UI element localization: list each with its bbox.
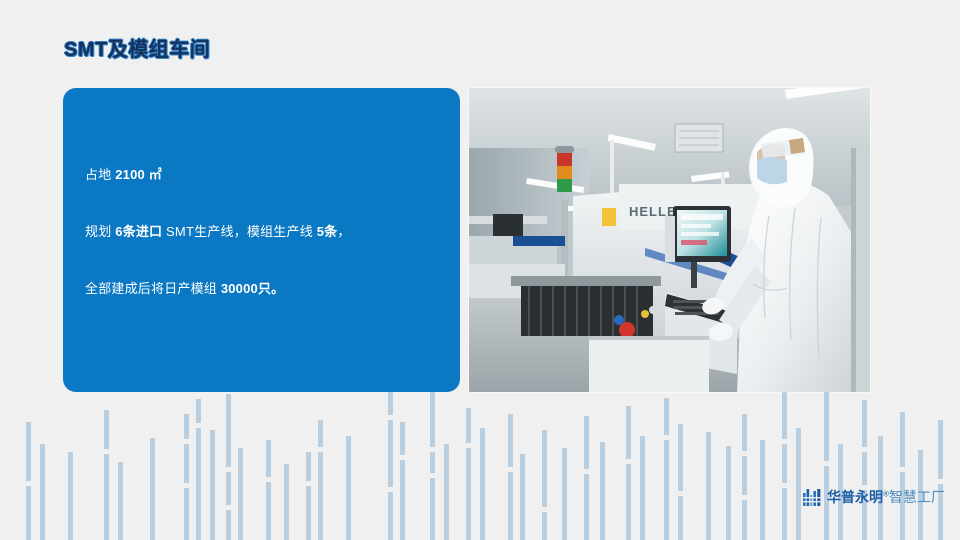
decorative-bar-strip — [0, 392, 960, 540]
decor-bar-gap — [26, 481, 31, 486]
decor-bar — [626, 406, 631, 540]
decor-bar-gap — [742, 451, 747, 456]
decor-bar — [346, 436, 351, 540]
decor-bar — [796, 428, 801, 540]
decor-bar — [640, 436, 645, 540]
decor-bar-gap — [184, 439, 189, 444]
decor-bar — [400, 422, 405, 540]
decor-bar — [782, 392, 787, 540]
page-title: SMT及模组车间 — [64, 33, 210, 62]
decor-bar-gap — [824, 461, 829, 466]
decor-bar — [430, 392, 435, 540]
decor-bar-gap — [542, 507, 547, 512]
decor-bar-gap — [430, 447, 435, 452]
decor-bar-gap — [388, 415, 393, 420]
decor-bar-gap — [782, 439, 787, 444]
decor-bar-gap — [196, 423, 201, 428]
decor-bar-gap — [400, 455, 405, 460]
logo-brand: 华普永明 — [827, 489, 883, 505]
decor-bar-gap — [938, 479, 943, 484]
info-line: 占地 2100 ㎡ — [85, 166, 446, 185]
decor-bar — [480, 428, 485, 540]
info-highlight: 5条 — [317, 224, 338, 239]
decor-bar-gap — [104, 449, 109, 454]
decor-bar — [318, 420, 323, 540]
decor-bar — [150, 438, 155, 540]
decor-bar-gap — [306, 481, 311, 486]
decor-bar — [678, 424, 683, 540]
decor-bar-gap — [626, 459, 631, 464]
decor-bar-gap — [226, 467, 231, 472]
info-text: 全部建成后将日产模组 — [85, 281, 221, 296]
decor-bar — [508, 414, 513, 540]
decor-bar — [824, 392, 829, 540]
decor-bar — [284, 464, 289, 540]
decor-bar — [68, 452, 73, 540]
info-text: 占地 — [85, 167, 115, 182]
decor-bar — [562, 448, 567, 540]
logo-tagline: 智慧工厂 — [889, 489, 945, 505]
info-highlight: ㎡ — [145, 167, 162, 182]
decor-bar — [210, 430, 215, 540]
decor-bar-gap — [584, 469, 589, 474]
decor-bar — [706, 432, 711, 540]
decor-bar-gap — [266, 477, 271, 482]
decor-bar-gap — [226, 505, 231, 510]
decor-bar-gap — [508, 467, 513, 472]
decor-bar — [520, 454, 525, 540]
decor-bar — [444, 444, 449, 540]
info-text: SMT生产线，模组生产线 — [162, 224, 316, 239]
brand-logo: 华普永明®智慧工厂 — [803, 487, 945, 507]
decor-bar-gap — [742, 495, 747, 500]
decor-bar-gap — [862, 447, 867, 452]
decor-bar — [900, 412, 905, 540]
decor-bar-gap — [664, 435, 669, 440]
decor-bar-gap — [318, 447, 323, 452]
info-card-body: 占地 2100 ㎡规划 6条进口 SMT生产线，模组生产线 5条，全部建成后将日… — [85, 166, 446, 299]
decor-bar-gap — [678, 491, 683, 496]
decor-bar — [862, 400, 867, 540]
info-text: 规划 — [85, 224, 115, 239]
logo-text: 华普永明®智慧工厂 — [827, 487, 945, 507]
decor-bar — [742, 414, 747, 540]
decor-bar — [184, 414, 189, 540]
decor-bar — [542, 430, 547, 540]
decor-bar-gap — [430, 473, 435, 478]
decor-bar — [306, 452, 311, 540]
decor-bar-gap — [782, 483, 787, 488]
info-highlight: 6条进口 — [115, 224, 162, 239]
info-text: ， — [337, 224, 350, 239]
decor-bar — [466, 408, 471, 540]
decor-bar-gap — [388, 487, 393, 492]
decor-bar — [196, 399, 201, 540]
decor-bar-gap — [466, 443, 471, 448]
decor-bar — [104, 410, 109, 540]
decor-bar-gap — [184, 483, 189, 488]
logo-mark-icon — [803, 489, 822, 506]
info-highlight: 30000只。 — [221, 281, 285, 296]
decor-bar — [40, 444, 45, 540]
info-line: 规划 6条进口 SMT生产线，模组生产线 5条， — [85, 223, 446, 242]
workshop-photo: HELLER — [469, 88, 870, 392]
info-card: 占地 2100 ㎡规划 6条进口 SMT生产线，模组生产线 5条，全部建成后将日… — [63, 88, 460, 392]
decor-bar — [118, 462, 123, 540]
decor-bar — [266, 440, 271, 540]
decor-bar-gap — [900, 467, 905, 472]
decor-bar — [600, 442, 605, 540]
decor-bar — [584, 416, 589, 540]
info-line: 全部建成后将日产模组 30000只。 — [85, 280, 446, 299]
decor-bar — [238, 448, 243, 540]
decor-bar — [760, 440, 765, 540]
info-highlight: 2100 — [115, 167, 145, 182]
decor-bar — [726, 446, 731, 540]
decor-bar — [664, 398, 669, 540]
